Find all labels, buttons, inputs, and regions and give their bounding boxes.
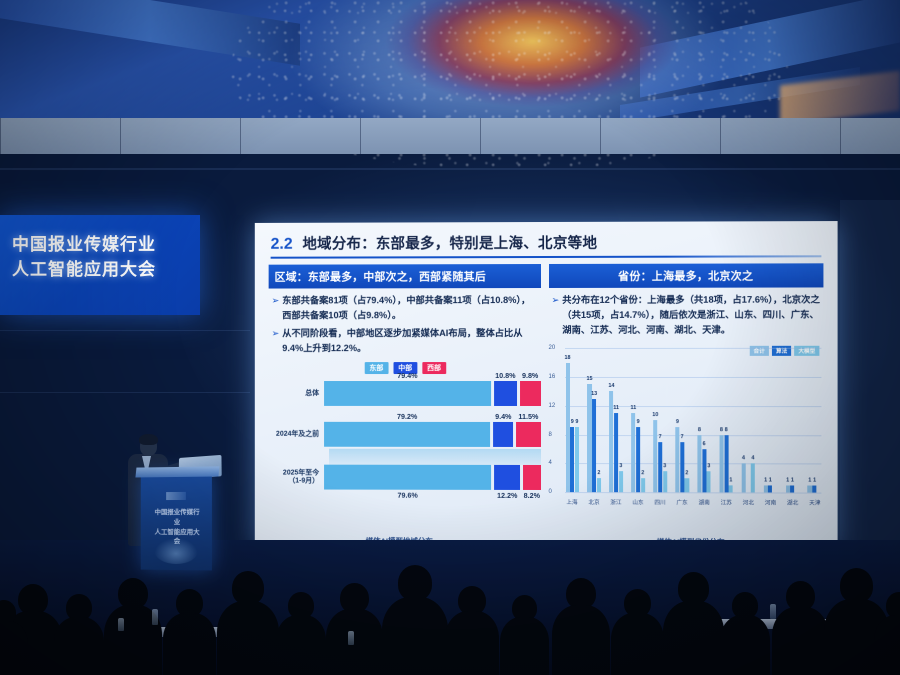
x-tick-label: 上海 — [566, 498, 579, 506]
bar-algorithm: 13 — [592, 399, 596, 493]
audience-shoulders — [611, 613, 664, 675]
bar-model: 3 — [707, 471, 711, 493]
lectern-line-1: 中国报业传媒行业 — [152, 508, 201, 528]
legend-item-east: 东部 — [364, 362, 388, 374]
bar-value: 8.2% — [524, 491, 540, 500]
audience-head — [840, 568, 873, 603]
x-tick-label: 河北 — [742, 499, 755, 507]
bullet-text: 东部共备案81项（占79.4%），中部共备案11项（占10.8%），西部共备案1… — [282, 293, 537, 323]
bar-value: 1 — [791, 477, 794, 483]
right-panel-header: 省份：上海最多，北京次之 — [548, 263, 823, 288]
bar-value: 10 — [652, 412, 658, 418]
bar-value: 8 — [698, 427, 701, 433]
bar-model: 2 — [641, 478, 645, 492]
bar-value: 9 — [575, 419, 578, 425]
bar-model: 3 — [619, 471, 623, 493]
audience-shoulders — [720, 615, 771, 675]
bar-value: 2 — [685, 470, 688, 476]
bullet-marker-icon: ➢ — [272, 293, 280, 323]
bar-value: 18 — [565, 355, 571, 361]
bar-value: 1 — [764, 477, 767, 483]
region-distribution-chart: 东部 中部 西部 总体 79.4% 10.8% — [269, 362, 541, 490]
bar-value: 79.6% — [397, 491, 417, 500]
bar-model: 9 — [575, 427, 579, 492]
bar-total: 8 — [697, 435, 701, 493]
bar-value: 1 — [786, 477, 789, 483]
list-item: ➢ 共分布在12个省份：上海最多（共18项，占17.6%），北京次之（共15项，… — [551, 292, 820, 338]
bar-value: 2 — [641, 470, 644, 476]
bar-value: 8 — [725, 427, 728, 433]
bar-value: 79.4% — [397, 371, 417, 380]
venue-banner: 中国报业传媒行业 人工智能应用大会 — [0, 215, 200, 315]
title-underline — [271, 255, 822, 258]
bar-total: 10 — [653, 420, 657, 492]
bar-algorithm: 7 — [658, 442, 662, 493]
bar-central: 12.2% — [494, 465, 520, 490]
bar-group: 972 — [675, 348, 689, 492]
bar-algorithm: 1 — [790, 485, 794, 492]
y-tick-label: 8 — [548, 432, 551, 438]
x-tick-label: 广东 — [676, 498, 689, 506]
bar-group: 1073 — [653, 348, 667, 492]
bar-model: 4 — [751, 464, 755, 493]
bar-total: 1 — [764, 485, 768, 492]
y-tick-label: 0 — [548, 489, 551, 495]
x-tick-label: 四川 — [654, 498, 667, 506]
bar-total: 8 — [719, 435, 723, 493]
bar-west: 8.2% — [523, 465, 540, 490]
audience-shoulders — [382, 597, 449, 675]
bar-algorithm: 6 — [702, 449, 706, 492]
audience-shoulders — [0, 621, 28, 675]
audience-shoulders — [276, 615, 327, 675]
bar-value: 15 — [586, 376, 592, 382]
left-panel: 区域：东部最多，中部次之，西部紧随其后 ➢ 东部共备案81项（占79.4%），中… — [269, 264, 541, 512]
audience-shoulders — [54, 617, 105, 675]
bar-value: 9 — [637, 419, 640, 425]
bar-value: 13 — [591, 391, 597, 397]
water-bottle — [348, 631, 354, 645]
bar-group: 1899 — [566, 348, 579, 492]
bar-value: 9.4% — [495, 412, 511, 421]
table-row: 2024年及之前 79.2% 9.4% 11.5% — [271, 422, 541, 447]
bar-total: 4 — [741, 464, 745, 493]
bar-west: 9.8% — [520, 381, 541, 406]
bar-value: 10.8% — [495, 371, 515, 380]
lectern: 中国报业传媒行业 人工智能应用大会 — [141, 474, 212, 571]
x-tick-label: 山东 — [631, 498, 644, 506]
audience-shoulders — [874, 615, 900, 675]
bar-group: 11 — [764, 348, 778, 493]
bar-model: 1 — [729, 485, 733, 492]
y-tick-label: 16 — [548, 374, 555, 380]
audience-shoulders — [217, 601, 280, 675]
bar-total: 1 — [786, 485, 790, 492]
x-tick-label: 湖南 — [698, 498, 711, 506]
bar-value: 1 — [813, 477, 816, 483]
y-tick-label: 4 — [548, 460, 551, 466]
slide-heading: 地域分布：东部最多，特别是上海、北京等地 — [303, 232, 598, 254]
x-tick-label: 北京 — [587, 498, 600, 506]
bar-value: 1 — [729, 477, 732, 483]
bar-model: 3 — [663, 471, 667, 493]
audience-shoulders — [326, 609, 383, 675]
bar-value: 8 — [720, 427, 723, 433]
water-bottle — [152, 609, 158, 625]
bar-east: 79.6% — [324, 465, 491, 490]
bar-model: 2 — [685, 478, 689, 492]
bar-value: 3 — [707, 463, 710, 469]
bar-total: 15 — [587, 384, 591, 492]
x-tick-label: 湖北 — [786, 499, 799, 507]
bar-group: 11 — [808, 348, 822, 493]
audience-head — [398, 565, 432, 601]
audience-shoulders — [552, 605, 611, 675]
bar-value: 79.2% — [397, 412, 417, 421]
bar-group: 11 — [786, 348, 800, 493]
row-label: 2024年及之前 — [271, 430, 324, 438]
bar-value: 11 — [631, 405, 637, 411]
right-panel: 省份：上海最多，北京次之 ➢ 共分布在12个省份：上海最多（共18项，占17.6… — [548, 263, 823, 513]
bar-group: 14113 — [609, 348, 623, 492]
audience-shoulders — [445, 611, 500, 675]
x-tick-label: 河南 — [764, 499, 777, 507]
bar-algorithm: 8 — [724, 435, 728, 493]
bar-algorithm: 1 — [812, 485, 816, 492]
bar-total: 1 — [808, 485, 812, 492]
audience-shoulders — [663, 601, 724, 675]
list-item: ➢ 东部共备案81项（占79.4%），中部共备案11项（占10.8%），西部共备… — [272, 293, 538, 323]
venue-banner-line-1: 中国报业传媒行业 — [12, 233, 192, 258]
row-label: 2025年至今（1-9月） — [271, 469, 324, 485]
slide-title-row: 2.2 地域分布：东部最多，特别是上海、北京等地 — [265, 229, 828, 254]
province-distribution-chart: 合计 算法 大模型 201612840189915132141131192107… — [548, 344, 823, 513]
bar-value: 11.5% — [518, 412, 538, 421]
venue-banner-line-2: 人工智能应用大会 — [12, 258, 192, 283]
legend-item-west: 西部 — [422, 362, 446, 374]
bar-value: 3 — [663, 463, 666, 469]
bar-value: 9 — [676, 419, 679, 425]
projection-screen: 2.2 地域分布：东部最多，特别是上海、北京等地 区域：东部最多，中部次之，西部… — [255, 221, 838, 551]
bar-value: 9 — [571, 419, 574, 425]
bar-group: 44 — [741, 348, 755, 493]
bar-value: 9.8% — [522, 371, 538, 380]
audience-head — [232, 571, 264, 605]
bar-value: 2 — [597, 470, 600, 476]
bullet-text: 从不同阶段看，中部地区逐步加紧媒体AI布局，整体占比从9.4%上升到12.2%。 — [282, 326, 537, 356]
bar-east: 79.2% — [324, 422, 490, 447]
bar-group: 15132 — [587, 348, 600, 492]
bar-value: 7 — [659, 434, 662, 440]
bar-group: 1192 — [631, 348, 645, 492]
bar-algorithm: 7 — [680, 442, 684, 493]
left-panel-bullets: ➢ 东部共备案81项（占79.4%），中部共备案11项（占10.8%），西部共备… — [269, 288, 541, 356]
bar-total: 11 — [631, 413, 635, 492]
bar-value: 3 — [619, 463, 622, 469]
x-tick-label: 江苏 — [720, 499, 733, 507]
slide-number: 2.2 — [271, 236, 293, 254]
x-tick-label: 浙江 — [609, 498, 622, 506]
bar-value: 1 — [769, 477, 772, 483]
ceiling — [0, 0, 900, 150]
x-tick-label: 天津 — [808, 499, 821, 507]
venue-banner-text: 中国报业传媒行业 人工智能应用大会 — [12, 233, 192, 282]
bar-value: 4 — [742, 456, 745, 462]
row-label: 总体 — [271, 390, 324, 398]
x-axis-labels: 上海北京浙江山东四川广东湖南江苏河北河南湖北天津 — [566, 498, 822, 507]
bar-total: 18 — [566, 363, 570, 493]
left-panel-header: 区域：东部最多，中部次之，西部紧随其后 — [269, 264, 541, 289]
table-row: 2025年至今（1-9月） 79.6% 12.2% 8.2% — [271, 465, 541, 490]
bar-algorithm: 1 — [768, 485, 772, 492]
y-tick-label: 12 — [548, 403, 555, 409]
bar-west: 11.5% — [516, 422, 540, 447]
bar-value: 14 — [608, 383, 614, 389]
bar-group: 863 — [697, 348, 711, 492]
bar-value: 4 — [751, 456, 754, 462]
bar-algorithm: 9 — [636, 427, 640, 492]
bar-value: 7 — [681, 434, 684, 440]
plot-area: 189915132141131192107397286388144111111 — [566, 348, 822, 493]
bar-central: 10.8% — [494, 381, 517, 406]
bullet-marker-icon: ➢ — [272, 326, 280, 356]
bar-algorithm: 11 — [614, 413, 618, 492]
bullet-marker-icon: ➢ — [551, 293, 559, 338]
bar-value: 6 — [703, 441, 706, 447]
table-row: 总体 79.4% 10.8% 9.8% — [271, 381, 541, 406]
y-tick-label: 20 — [548, 345, 555, 351]
audience-shoulders — [500, 617, 549, 675]
audience-shoulders — [163, 613, 216, 675]
bar-central: 9.4% — [493, 422, 513, 447]
bar-value: 12.2% — [497, 491, 517, 500]
bar-east: 79.4% — [324, 381, 491, 406]
audience-shoulders — [772, 607, 829, 675]
water-bottle — [118, 618, 124, 631]
bar-group: 881 — [719, 348, 733, 493]
bar-model: 2 — [597, 478, 601, 492]
list-item: ➢ 从不同阶段看，中部地区逐步加紧媒体AI布局，整体占比从9.4%上升到12.2… — [272, 326, 538, 356]
ceiling-panel — [0, 118, 900, 154]
bar-value: 11 — [613, 405, 619, 411]
right-panel-bullets: ➢ 共分布在12个省份：上海最多（共18项，占17.6%），北京次之（共15项，… — [548, 287, 823, 338]
bar-total: 9 — [675, 427, 679, 492]
conference-photo: 中国报业传媒行业 人工智能应用大会 2.2 地域分布：东部最多，特别是上海、北京… — [0, 0, 900, 675]
bar-value: 1 — [808, 477, 811, 483]
water-bottle — [770, 604, 776, 619]
bar-algorithm: 9 — [570, 427, 574, 492]
bullet-text: 共分布在12个省份：上海最多（共18项，占17.6%），北京次之（共15项，占1… — [562, 292, 820, 338]
